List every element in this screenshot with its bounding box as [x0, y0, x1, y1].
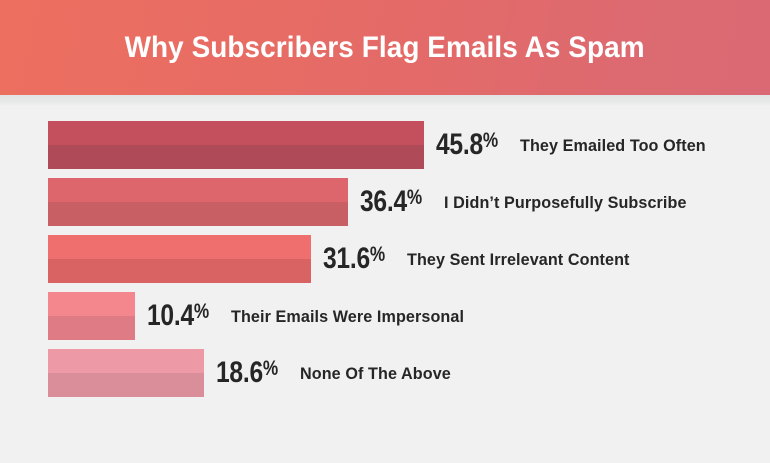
chart-row: 36.4% I Didn’t Purposefully Subscribe — [0, 178, 770, 226]
bar-fill-top — [48, 292, 135, 316]
bar — [48, 121, 424, 169]
bar-fill-bottom — [48, 316, 135, 340]
bar-label-group: 45.8% They Emailed Too Often — [436, 121, 716, 169]
bar-value: 10.4% — [147, 301, 209, 331]
bar-label-group: 31.6% They Sent Irrelevant Content — [323, 235, 642, 283]
header-banner: Why Subscribers Flag Emails As Spam — [0, 0, 770, 95]
bar-fill-bottom — [48, 373, 204, 397]
bar-value: 45.8% — [436, 130, 498, 160]
bar-value: 36.4% — [360, 187, 422, 217]
bar-label-group: 36.4% I Didn’t Purposefully Subscribe — [360, 178, 700, 226]
bar — [48, 178, 348, 226]
chart-row: 45.8% They Emailed Too Often — [0, 121, 770, 169]
bar — [48, 292, 135, 340]
chart-row: 10.4% Their Emails Were Impersonal — [0, 292, 770, 340]
bar-fill-bottom — [48, 145, 424, 169]
bar-category-label: None Of The Above — [300, 365, 451, 382]
chart-row: 18.6% None Of The Above — [0, 349, 770, 397]
bar-fill-top — [48, 349, 204, 373]
page-title: Why Subscribers Flag Emails As Spam — [125, 33, 645, 63]
bar-category-label: They Sent Irrelevant Content — [407, 251, 630, 268]
bar-chart: 45.8% They Emailed Too Often 36.4% I Did… — [0, 105, 770, 463]
bar-value: 18.6% — [216, 358, 278, 388]
bar-label-group: 18.6% None Of The Above — [216, 349, 459, 397]
infographic-root: Why Subscribers Flag Emails As Spam 45.8… — [0, 0, 770, 463]
bar-fill-top — [48, 235, 311, 259]
header-divider — [0, 95, 770, 105]
bar-fill-top — [48, 178, 348, 202]
bar — [48, 349, 204, 397]
bar-label-group: 10.4% Their Emails Were Impersonal — [147, 292, 477, 340]
bar — [48, 235, 311, 283]
chart-row: 31.6% They Sent Irrelevant Content — [0, 235, 770, 283]
bar-value: 31.6% — [323, 244, 385, 274]
bar-category-label: I Didn’t Purposefully Subscribe — [444, 194, 687, 211]
bar-fill-top — [48, 121, 424, 145]
bar-category-label: Their Emails Were Impersonal — [231, 308, 464, 325]
bar-fill-bottom — [48, 202, 348, 226]
bar-category-label: They Emailed Too Often — [520, 137, 706, 154]
bar-fill-bottom — [48, 259, 311, 283]
